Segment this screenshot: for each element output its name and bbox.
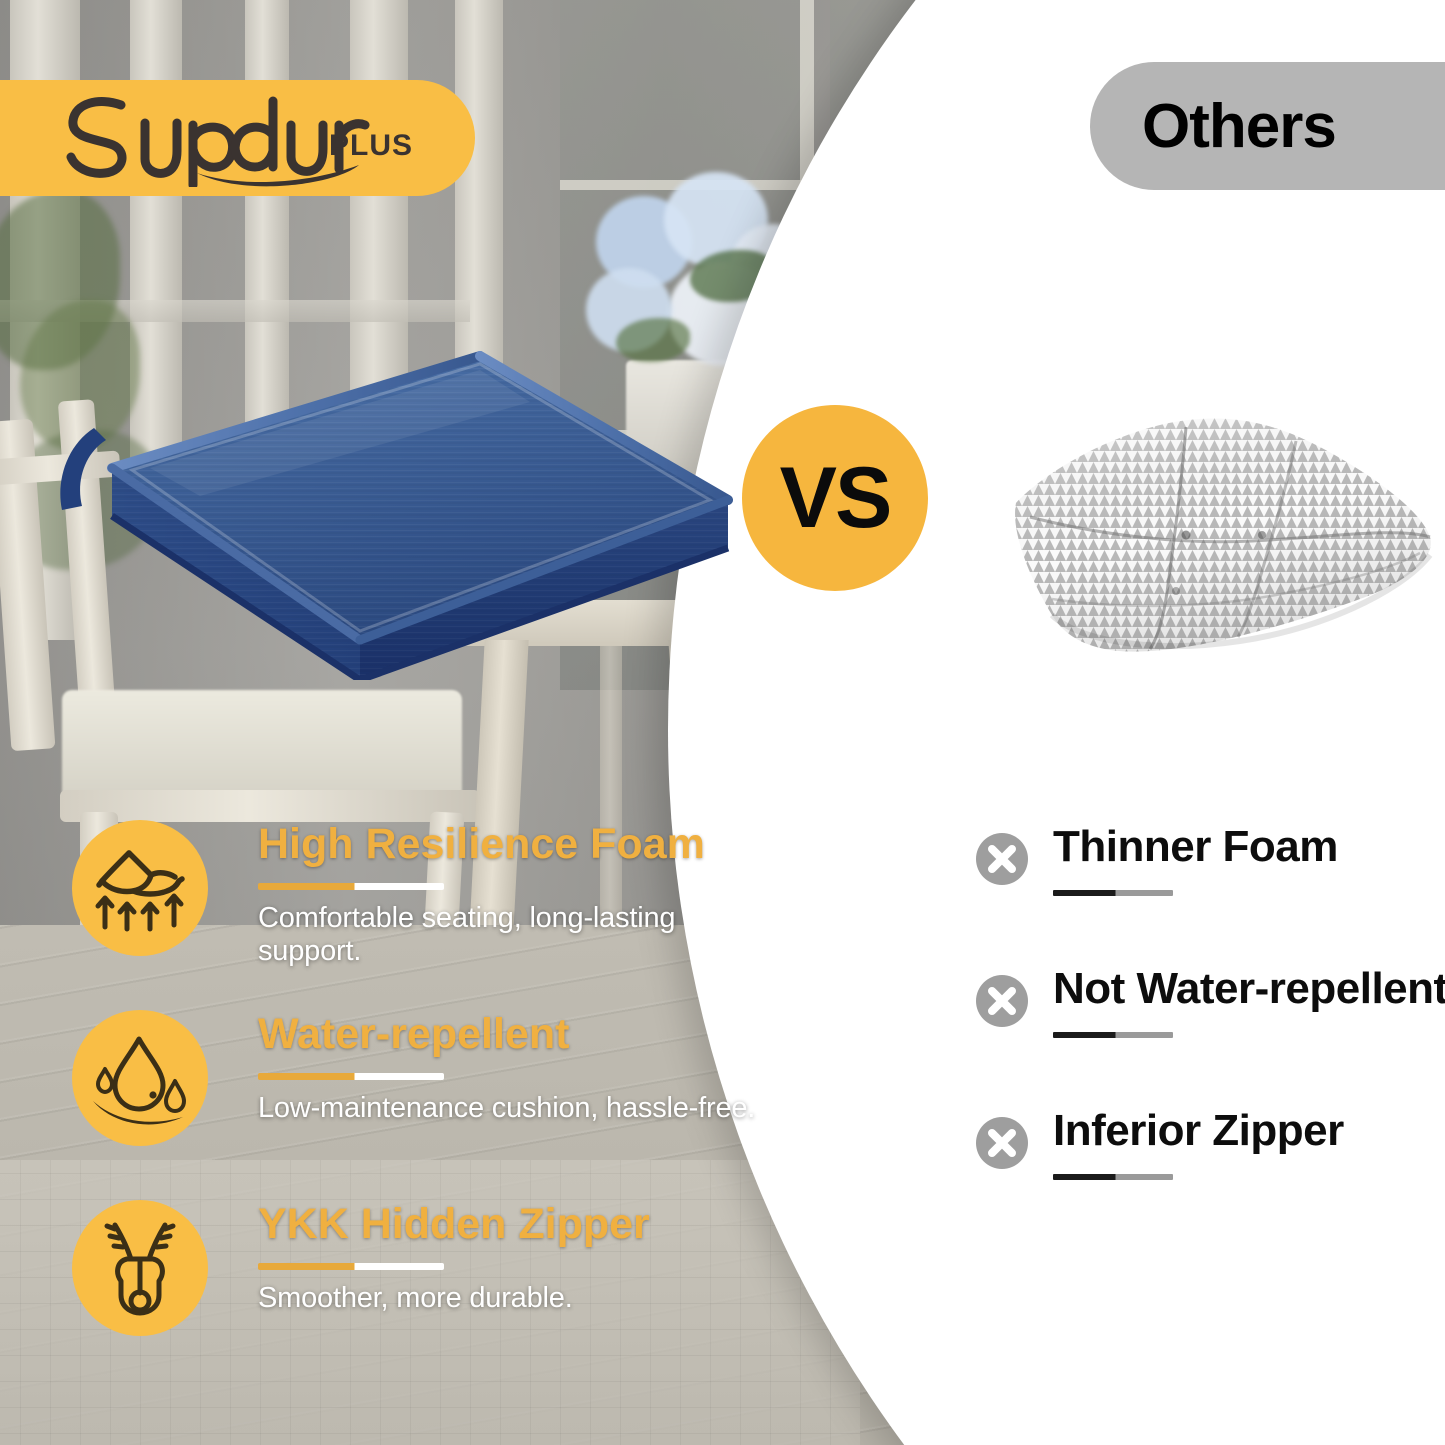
water-droplet-repel-icon bbox=[72, 1010, 208, 1146]
drawback-divider bbox=[1053, 1174, 1173, 1180]
drawback-title: Thinner Foam bbox=[1053, 822, 1338, 872]
drawback-title: Not Water-repellent bbox=[1053, 964, 1445, 1014]
vs-badge: VS bbox=[742, 405, 928, 591]
feature-divider bbox=[258, 1263, 444, 1270]
feature-divider bbox=[258, 1073, 444, 1080]
drawback-item: Inferior Zipper bbox=[975, 1114, 1445, 1256]
logo-plus-label: PLUS bbox=[329, 129, 413, 163]
feature-item: Water-repellent Low-maintenance cushion,… bbox=[72, 1002, 772, 1192]
drawback-title: Inferior Zipper bbox=[1053, 1106, 1344, 1156]
feature-text: Water-repellent Low-maintenance cushion,… bbox=[258, 1012, 778, 1125]
others-label: Others bbox=[1142, 91, 1336, 162]
others-gray-cushion-image bbox=[1000, 385, 1440, 685]
feature-item: High Resilience Foam Comfortable seating… bbox=[72, 812, 772, 1002]
x-circle-icon bbox=[975, 1116, 1029, 1170]
feature-title: YKK Hidden Zipper bbox=[258, 1202, 778, 1247]
hand-support-arrows-icon bbox=[72, 820, 208, 956]
feature-subtitle: Low-maintenance cushion, hassle-free. bbox=[258, 1092, 778, 1125]
feature-subtitle: Comfortable seating, long-lasting suppor… bbox=[258, 902, 778, 968]
feature-item: YKK Hidden Zipper Smoother, more durable… bbox=[72, 1192, 772, 1382]
feature-text: YKK Hidden Zipper Smoother, more durable… bbox=[258, 1202, 778, 1315]
drawback-item: Not Water-repellent bbox=[975, 972, 1445, 1114]
vs-label: VS bbox=[780, 449, 891, 548]
comparison-infographic: PLUS Others VS bbox=[0, 0, 1445, 1445]
feature-title: Water-repellent bbox=[258, 1012, 778, 1057]
feature-subtitle: Smoother, more durable. bbox=[258, 1282, 778, 1315]
feature-list: High Resilience Foam Comfortable seating… bbox=[72, 812, 772, 1382]
x-circle-icon bbox=[975, 974, 1029, 1028]
drawback-divider bbox=[1053, 890, 1173, 896]
supdur-blue-cushion-image bbox=[60, 350, 740, 680]
zipper-icon bbox=[72, 1200, 208, 1336]
competitor-drawback-list: Thinner Foam Not Water-repellent Inferio… bbox=[975, 830, 1445, 1256]
feature-title: High Resilience Foam bbox=[258, 822, 778, 867]
drawback-divider bbox=[1053, 1032, 1173, 1038]
brand-logo-pill: PLUS bbox=[0, 80, 475, 196]
feature-text: High Resilience Foam Comfortable seating… bbox=[258, 822, 778, 968]
x-circle-icon bbox=[975, 832, 1029, 886]
supdur-wordmark-logo: PLUS bbox=[59, 89, 409, 187]
others-label-pill: Others bbox=[1090, 62, 1445, 190]
drawback-item: Thinner Foam bbox=[975, 830, 1445, 972]
feature-divider bbox=[258, 883, 444, 890]
